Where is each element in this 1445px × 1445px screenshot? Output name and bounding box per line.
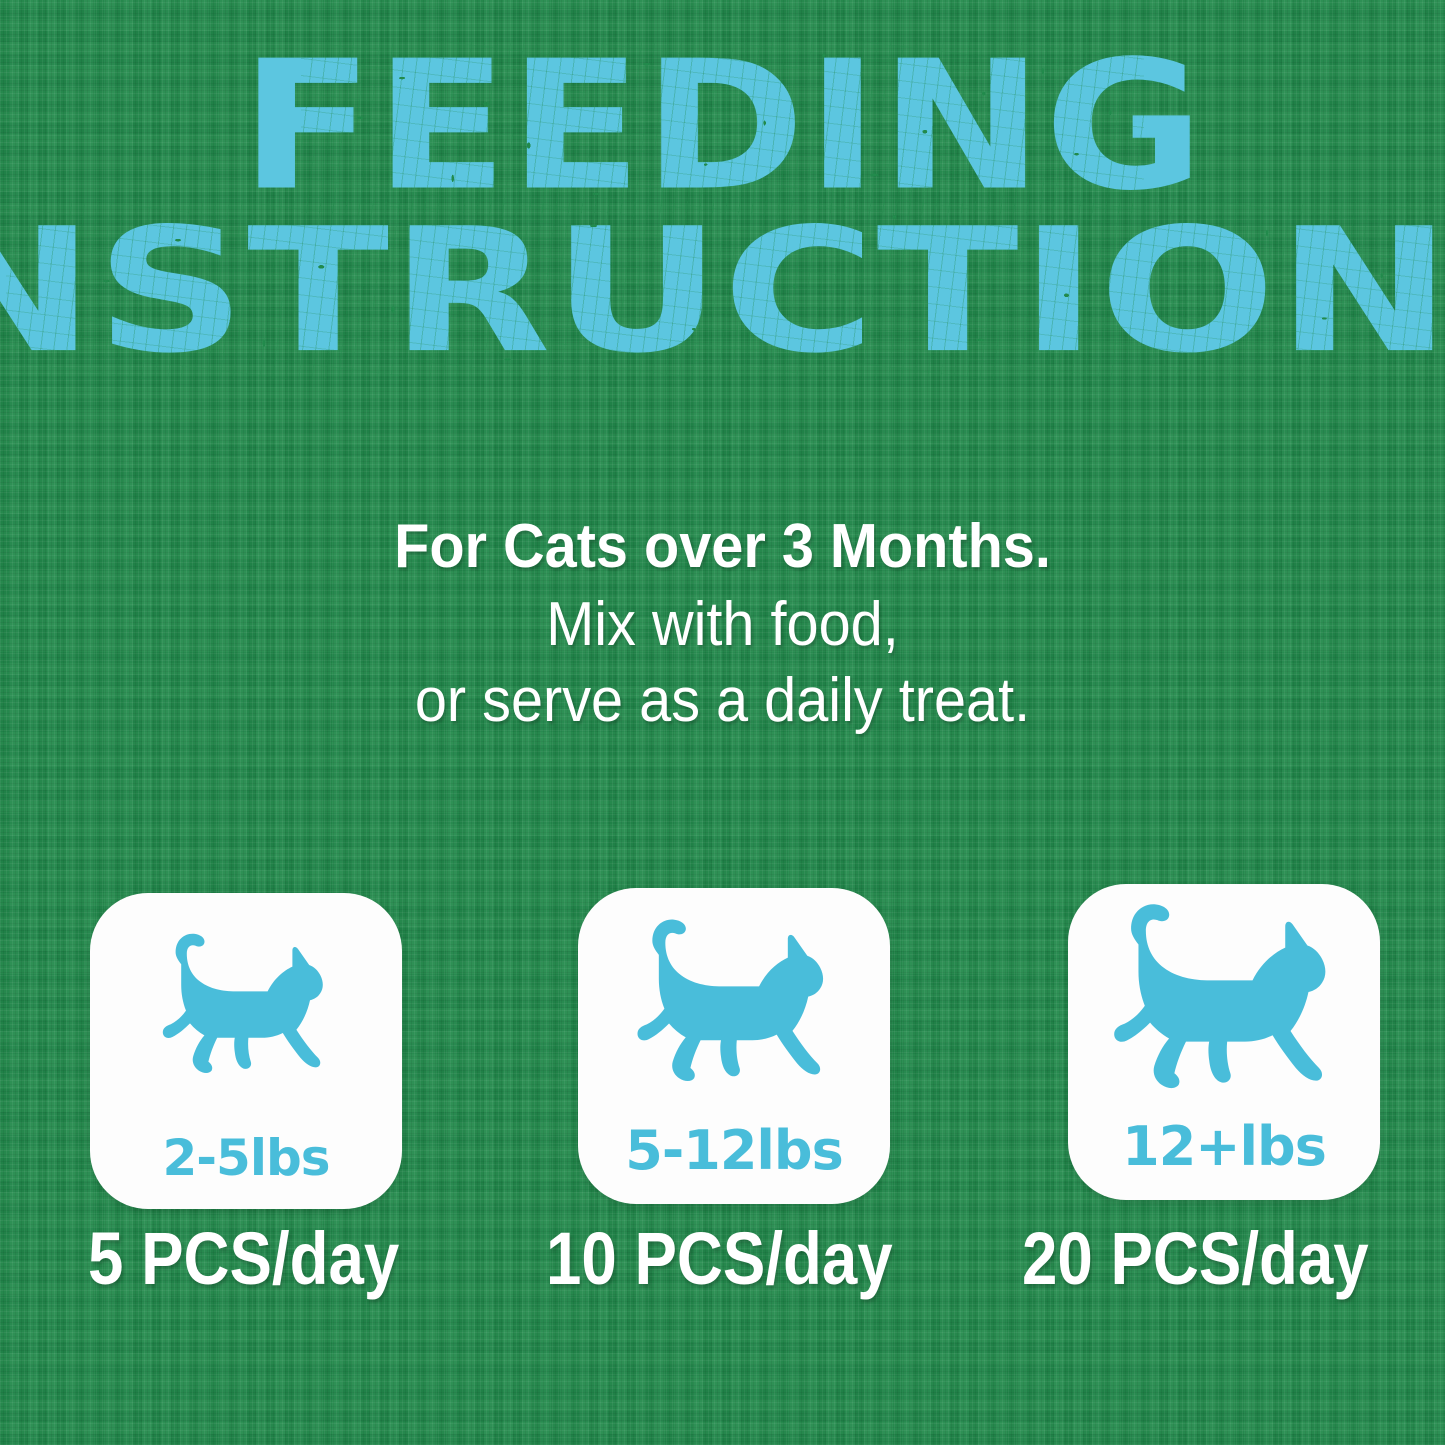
page-title: FEEDING INSTRUCTIONS — [0, 46, 1445, 373]
subtitle-line-2: Mix with food, — [51, 594, 1395, 656]
weight-card-5-12lbs: 5-12lbs — [578, 888, 890, 1204]
dose-labels-row: 5 PCS/day 10 PCS/day 20 PCS/day — [0, 1222, 1445, 1317]
weight-label: 12+lbs — [1068, 1115, 1380, 1178]
heading-line-1: FEEDING — [240, 41, 1205, 212]
heading-line-2: INSTRUCTIONS — [0, 210, 1445, 374]
weight-card-2-5lbs: 2-5lbs — [90, 893, 402, 1209]
feeding-instructions-poster: FEEDING INSTRUCTIONS For Cats over 3 Mon… — [0, 0, 1445, 1445]
weight-class-cards: 2-5lbs 5-12lbs 12+lbs — [0, 884, 1445, 1209]
dose-label-small: 5 PCS/day — [88, 1222, 399, 1296]
walking-cat-icon — [618, 914, 850, 1105]
weight-label: 5-12lbs — [578, 1119, 890, 1182]
subtitle-block: For Cats over 3 Months. Mix with food, o… — [0, 516, 1445, 732]
dose-label-large: 20 PCS/day — [1022, 1222, 1369, 1296]
walking-cat-icon — [1092, 898, 1356, 1114]
subtitle-line-3: or serve as a daily treat. — [51, 670, 1395, 732]
heading-line-1-wrap: FEEDING — [307, 46, 1139, 207]
dose-label-medium: 10 PCS/day — [546, 1222, 893, 1296]
weight-label: 2-5lbs — [90, 1129, 402, 1187]
walking-cat-icon — [146, 929, 346, 1094]
weight-card-12plus-lbs: 12+lbs — [1068, 884, 1380, 1200]
heading-line-2-wrap: INSTRUCTIONS — [12, 207, 1433, 372]
subtitle-line-1: For Cats over 3 Months. — [51, 516, 1395, 578]
